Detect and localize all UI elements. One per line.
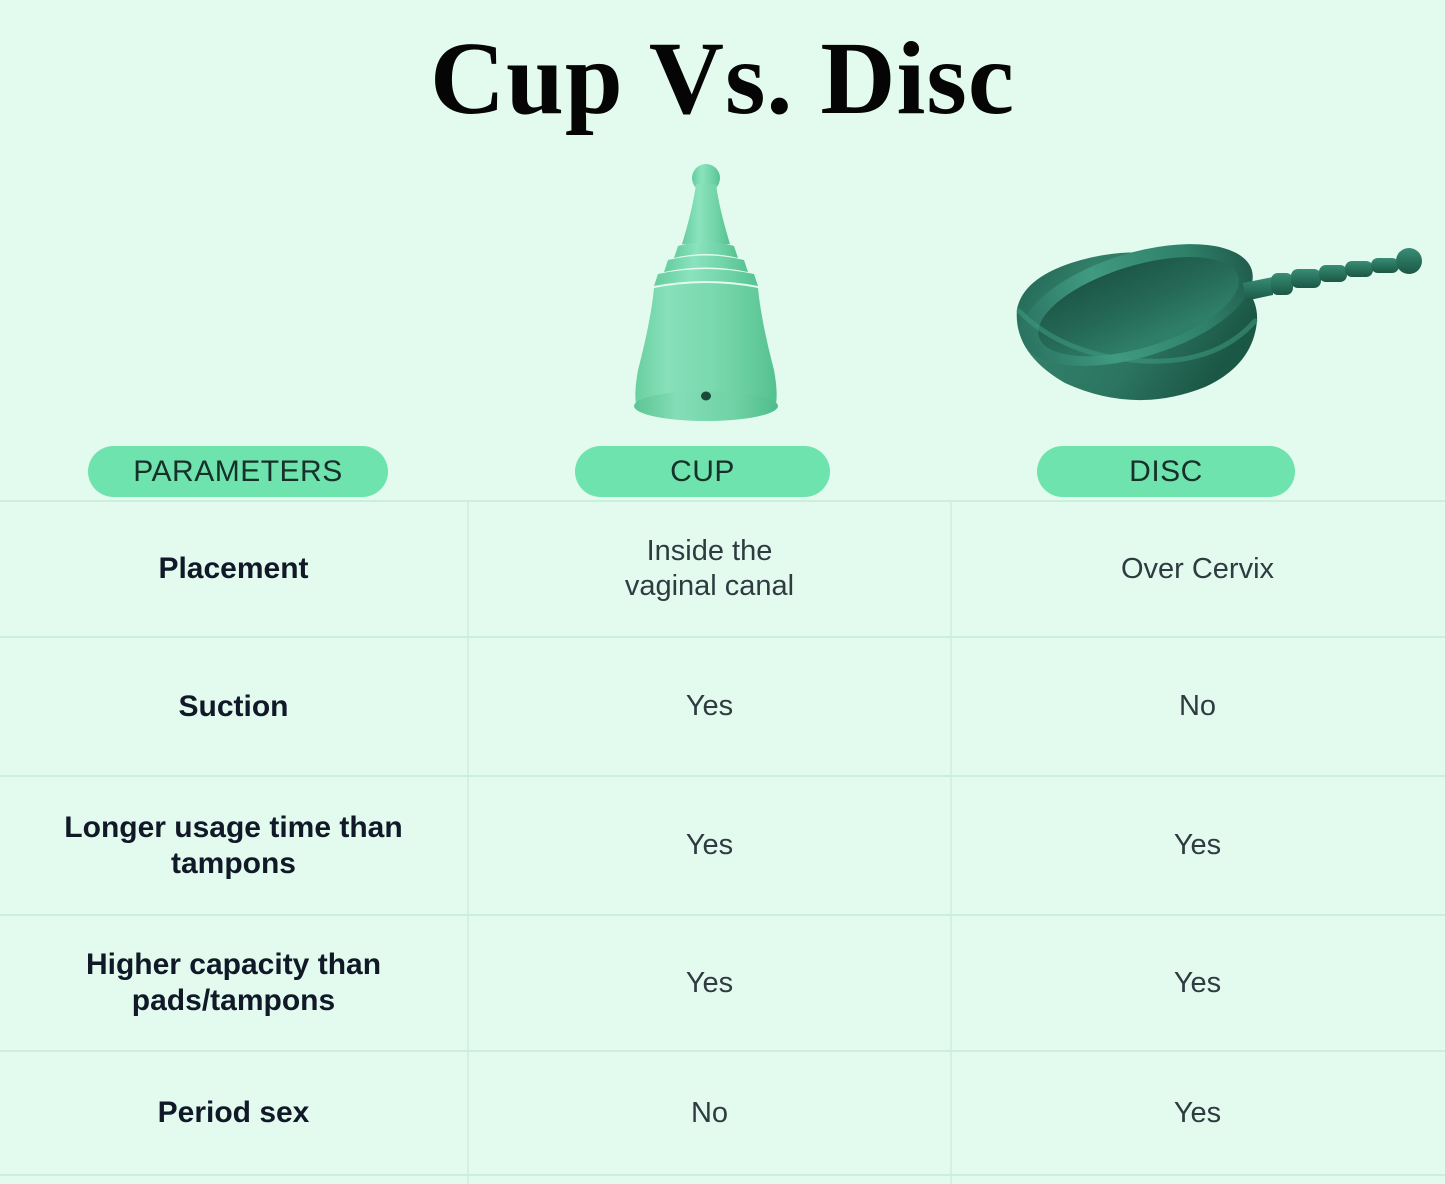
menstrual-cup-illustration: [596, 160, 816, 425]
table-row: Placement Inside the vaginal canal Over …: [0, 502, 1445, 638]
row-cup-value: Inside the vaginal canal: [469, 502, 952, 636]
row-cup-value: Yes: [469, 777, 952, 914]
table-row: Higher capacity than pads/tampons Yes Ye…: [0, 916, 1445, 1052]
table-row: Period sex No Yes: [0, 1052, 1445, 1176]
page-title: Cup Vs. Disc: [0, 24, 1445, 133]
row-parameter-line1: Higher capacity than: [86, 948, 381, 981]
row-parameter-label: [0, 1176, 469, 1184]
row-cup-value-line1: Inside the: [647, 535, 773, 567]
row-disc-value: No: [952, 638, 1443, 775]
column-header-disc[interactable]: DISC: [1037, 446, 1295, 497]
row-parameter-label: Placement: [0, 502, 469, 636]
row-parameter-line2: tampons: [171, 847, 296, 880]
row-cup-value: Yes: [469, 916, 952, 1050]
row-parameter-label: Period sex: [0, 1052, 469, 1174]
row-cup-value: [469, 1176, 952, 1184]
column-header-parameters[interactable]: PARAMETERS: [88, 446, 388, 497]
table-row: Longer usage time than tampons Yes Yes: [0, 777, 1445, 916]
row-cup-value: Yes: [469, 638, 952, 775]
row-parameter-line2: pads/tampons: [132, 984, 335, 1017]
comparison-table: Placement Inside the vaginal canal Over …: [0, 500, 1445, 1184]
product-illustrations: [0, 150, 1445, 440]
row-parameter-label: Suction: [0, 638, 469, 775]
row-parameter-label: Higher capacity than pads/tampons: [0, 916, 469, 1050]
table-header-row: PARAMETERS CUP DISC: [0, 446, 1445, 500]
row-parameter-line1: Longer usage time than: [64, 811, 402, 844]
row-disc-value: Over Cervix: [952, 502, 1443, 636]
row-disc-value: Yes: [952, 1052, 1443, 1174]
row-cup-value-line2: vaginal canal: [625, 570, 794, 602]
table-row-partial: [0, 1176, 1445, 1184]
row-disc-value: Yes: [952, 777, 1443, 914]
table-row: Suction Yes No: [0, 638, 1445, 777]
column-header-cup[interactable]: CUP: [575, 446, 830, 497]
row-parameter-label: Longer usage time than tampons: [0, 777, 469, 914]
row-disc-value: [952, 1176, 1443, 1184]
row-cup-value: No: [469, 1052, 952, 1174]
row-disc-value: Yes: [952, 916, 1443, 1050]
menstrual-disc-illustration: [1005, 225, 1435, 415]
